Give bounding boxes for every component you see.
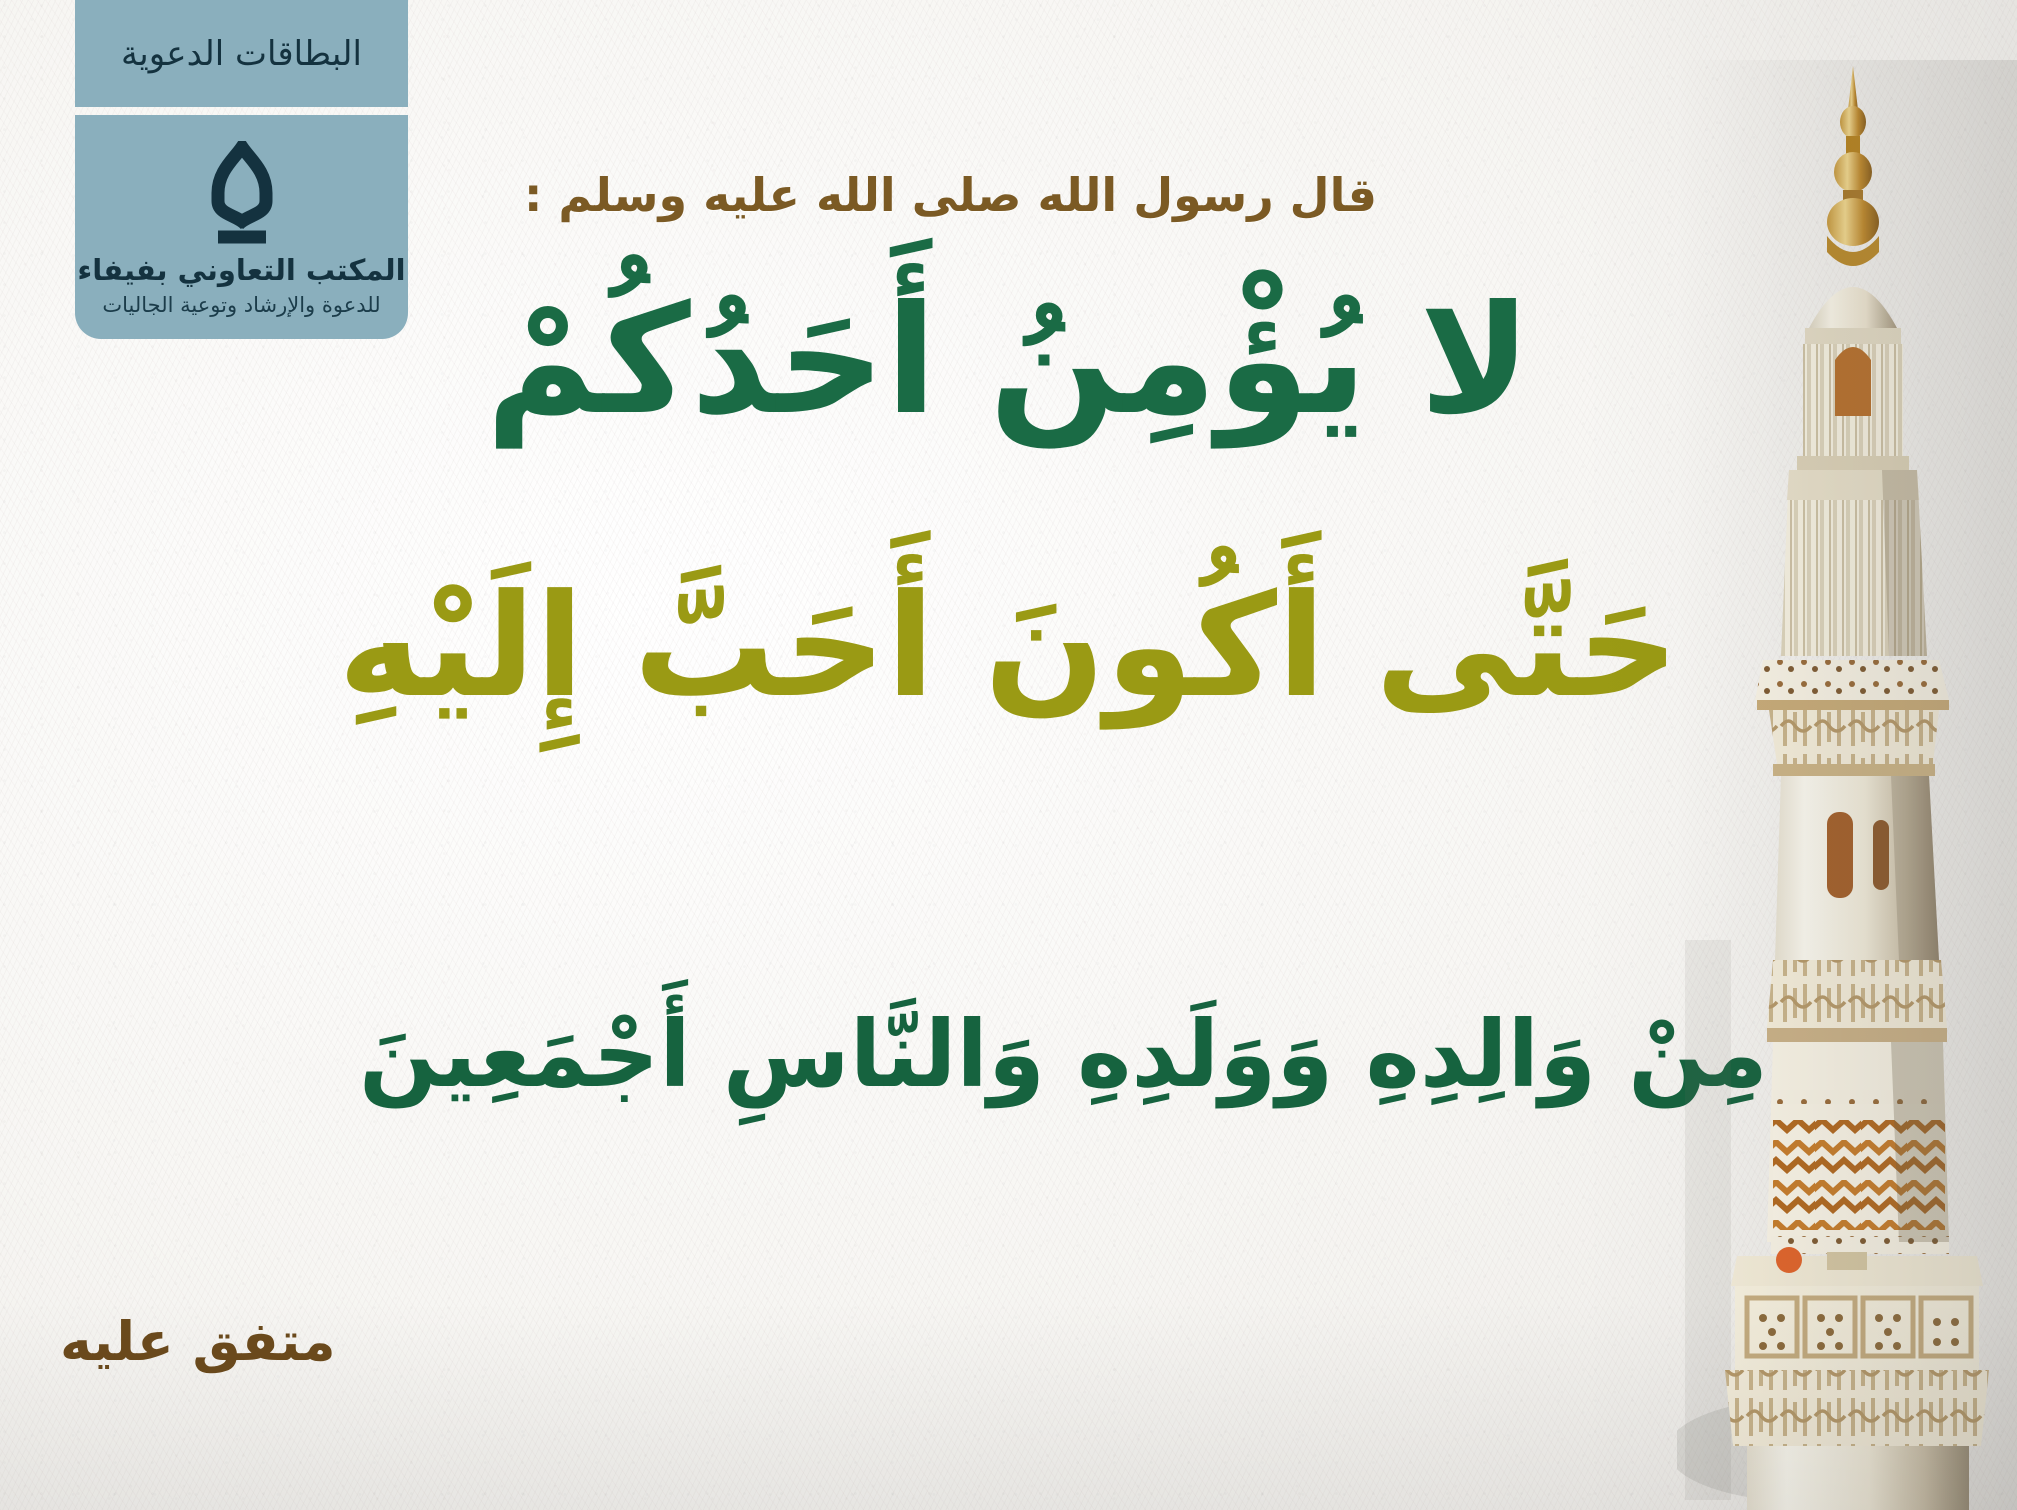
card-series-title: البطاقات الدعوية	[75, 0, 408, 107]
hadith-line-2: حَتَّى أَكُونَ أَحَبَّ إِلَيْهِ	[60, 565, 1957, 728]
mosque-minaret-photo	[1677, 60, 2017, 1510]
dawah-card: البطاقات الدعوية المكتب التعاوني بفيفاء …	[0, 0, 2017, 1510]
mosque-mihrab-monogram-icon	[182, 141, 302, 249]
hadith-line-1: لا يُؤْمِنُ أَحَدُكُمْ	[300, 275, 1717, 448]
hadith-source-label: متفق عليه	[60, 1310, 336, 1373]
hadith-attribution-intro: قال رسول الله صلى الله عليه وسلم :	[524, 168, 1377, 222]
hadith-line-3: مِنْ وَالِدِهِ وَوَلَدِهِ وَالنَّاسِ أَج…	[140, 1000, 1987, 1110]
